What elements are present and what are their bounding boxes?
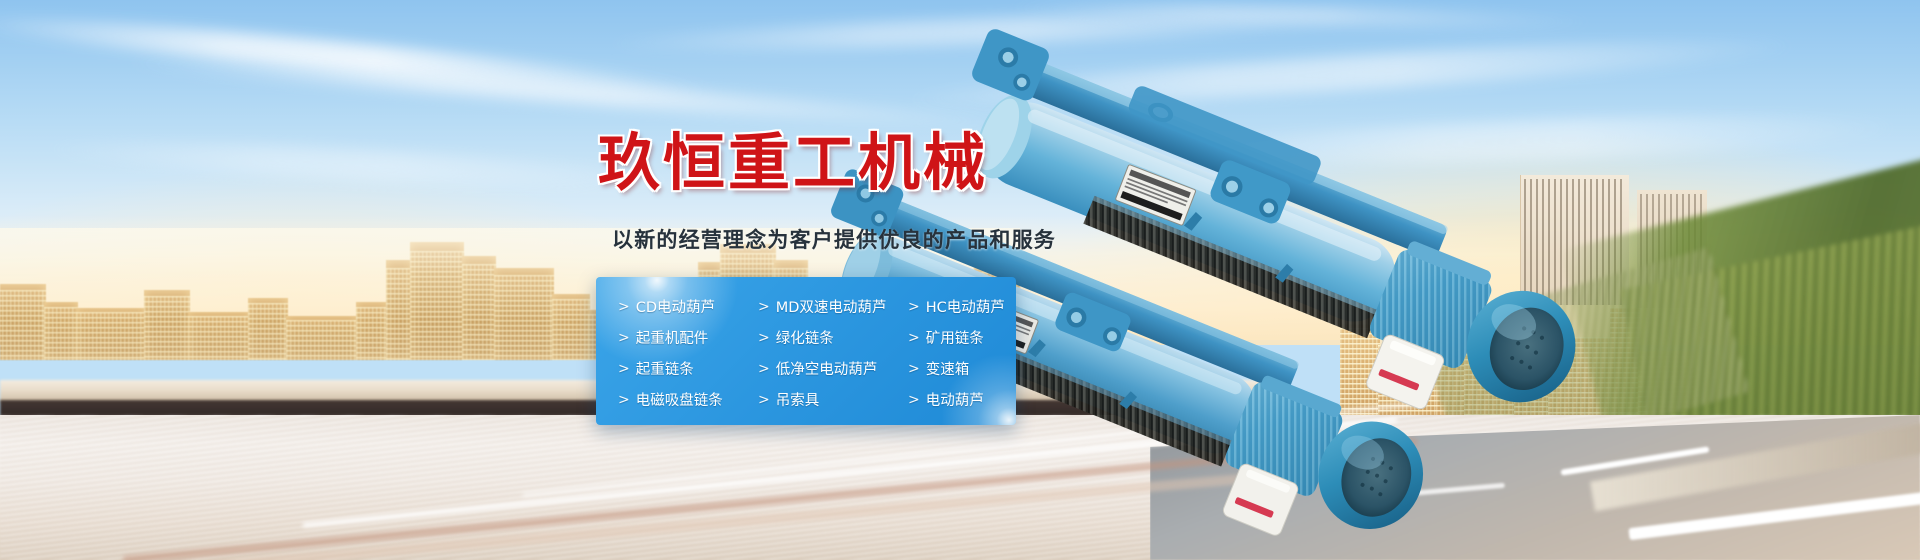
product-link-4[interactable]: >起重机配件: [596, 327, 748, 348]
product-link-label: 电磁吸盘链条: [636, 389, 723, 410]
product-link-1[interactable]: >CD电动葫芦: [596, 296, 748, 317]
product-link-label: HC电动葫芦: [926, 296, 1005, 317]
product-category-panel: >CD电动葫芦>MD双速电动葫芦>HC电动葫芦>起重机配件>绿化链条>矿用链条>…: [596, 277, 1016, 425]
chevron-right-icon: >: [908, 392, 920, 408]
product-link-label: 矿用链条: [926, 327, 984, 348]
chevron-right-icon: >: [908, 299, 920, 315]
product-link-8[interactable]: >低净空电动葫芦: [748, 358, 908, 379]
chevron-right-icon: >: [758, 361, 770, 377]
product-link-label: 吊索具: [776, 389, 820, 410]
product-link-12[interactable]: >电动葫芦: [908, 389, 1016, 410]
product-row: >起重机配件>绿化链条>矿用链条: [596, 322, 1016, 353]
chevron-right-icon: >: [618, 361, 630, 377]
product-link-9[interactable]: >变速箱: [908, 358, 1016, 379]
product-row: >CD电动葫芦>MD双速电动葫芦>HC电动葫芦: [596, 291, 1016, 322]
product-link-label: 电动葫芦: [926, 389, 984, 410]
banner-content: 玖恒重工机械 以新的经营理念为客户提供优良的产品和服务 >CD电动葫芦>MD双速…: [0, 0, 1920, 560]
chevron-right-icon: >: [618, 299, 630, 315]
chevron-right-icon: >: [908, 330, 920, 346]
product-link-label: MD双速电动葫芦: [776, 296, 887, 317]
chevron-right-icon: >: [758, 299, 770, 315]
product-link-label: 绿化链条: [776, 327, 834, 348]
product-link-2[interactable]: >MD双速电动葫芦: [748, 296, 908, 317]
chevron-right-icon: >: [618, 330, 630, 346]
chevron-right-icon: >: [758, 392, 770, 408]
product-link-10[interactable]: >电磁吸盘链条: [596, 389, 748, 410]
product-link-label: CD电动葫芦: [636, 296, 715, 317]
chevron-right-icon: >: [908, 361, 920, 377]
product-link-6[interactable]: >矿用链条: [908, 327, 1016, 348]
chevron-right-icon: >: [758, 330, 770, 346]
product-row: >电磁吸盘链条>吊索具>电动葫芦: [596, 384, 1016, 415]
company-title: 玖恒重工机械: [598, 112, 988, 202]
promo-banner: 玖恒重工机械 以新的经营理念为客户提供优良的产品和服务 >CD电动葫芦>MD双速…: [0, 0, 1920, 560]
product-row: >起重链条>低净空电动葫芦>变速箱: [596, 353, 1016, 384]
company-tagline: 以新的经营理念为客户提供优良的产品和服务: [612, 224, 1056, 254]
product-link-label: 起重机配件: [636, 327, 709, 348]
product-link-label: 低净空电动葫芦: [776, 358, 878, 379]
product-link-5[interactable]: >绿化链条: [748, 327, 908, 348]
product-link-3[interactable]: >HC电动葫芦: [908, 296, 1016, 317]
product-link-7[interactable]: >起重链条: [596, 358, 748, 379]
product-link-label: 起重链条: [636, 358, 694, 379]
product-link-11[interactable]: >吊索具: [748, 389, 908, 410]
chevron-right-icon: >: [618, 392, 630, 408]
product-link-label: 变速箱: [926, 358, 970, 379]
